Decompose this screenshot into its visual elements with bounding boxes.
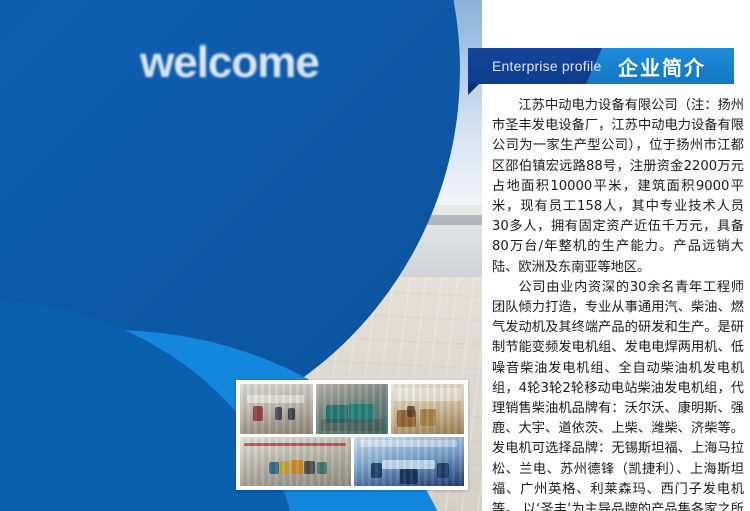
photo-detail (240, 384, 313, 434)
genset-factory-photo (316, 384, 389, 434)
photo-detail (354, 437, 465, 486)
open-office-photo (391, 384, 464, 434)
photo-collage (236, 380, 468, 490)
welcome-heading: welcome (140, 36, 319, 86)
photo-detail (316, 384, 389, 434)
boardroom-photo (354, 437, 465, 486)
warehouse-photo (240, 437, 351, 486)
tab-label-english: Enterprise profile (468, 58, 601, 74)
collage-row-bottom (240, 437, 464, 486)
photo-detail (240, 437, 351, 486)
company-profile-text: 江苏中动电力设备有限公司（注：扬州市圣丰发电设备厂，江苏中动电力设备有限公司为一… (492, 96, 744, 511)
profile-paragraph-2: 公司由业内资深的30余名青年工程师团队倾力打造，专业从事通用汽、柴油、燃气发动机… (492, 278, 744, 511)
meeting-room-photo (240, 384, 313, 434)
photo-detail (391, 384, 464, 434)
hero-image-panel: 中动电力 江苏中动电力设备有限公司 Zhongdong Power Equipm… (0, 0, 500, 511)
collage-row-top (240, 384, 464, 434)
company-profile-slide: 中动电力 江苏中动电力设备有限公司 Zhongdong Power Equipm… (0, 0, 750, 511)
profile-text-panel: Enterprise profile 企业简介 江苏中动电力设备有限公司（注：扬… (482, 0, 750, 511)
tab-label-chinese: 企业简介 (618, 48, 706, 84)
profile-paragraph-1: 江苏中动电力设备有限公司（注：扬州市圣丰发电设备厂，江苏中动电力设备有限公司为一… (492, 96, 744, 278)
enterprise-profile-tab[interactable]: Enterprise profile 企业简介 (468, 48, 734, 84)
tab-tail-icon (468, 84, 479, 95)
